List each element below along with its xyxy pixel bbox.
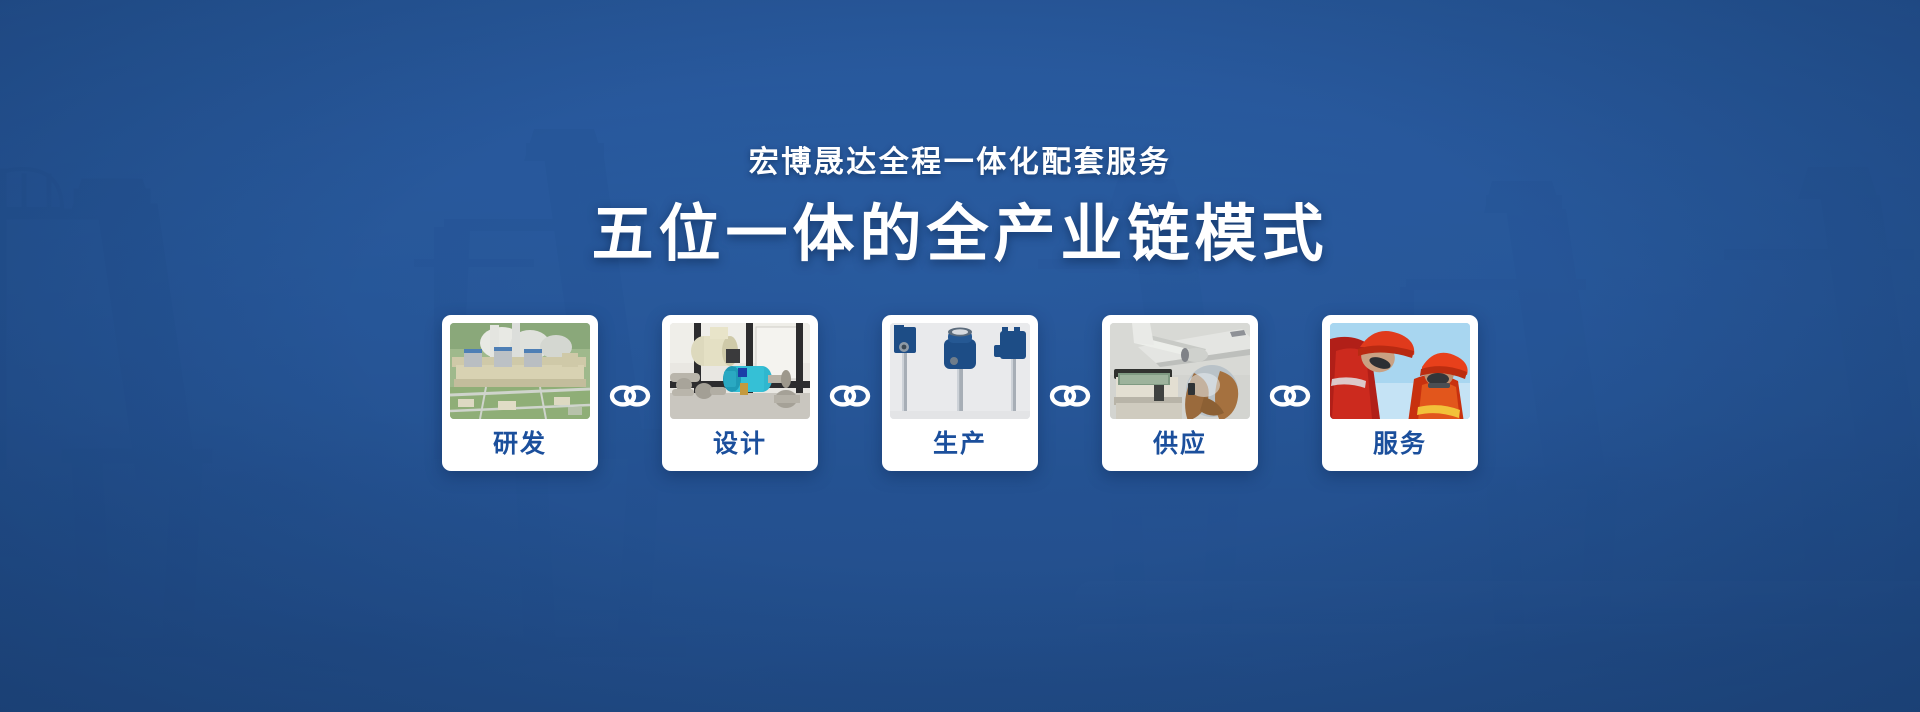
banner-subtitle: 宏博晟达全程一体化配套服务 (749, 148, 1172, 178)
chain-card-supply[interactable]: 供应 (1102, 315, 1258, 471)
chain-link-icon (829, 383, 871, 409)
industrial-plant-aerial-photo (450, 323, 590, 419)
chain-card-design[interactable]: 设计 (662, 315, 818, 471)
value-chain-list: 研发 (442, 315, 1478, 471)
chain-card-label: 设计 (713, 419, 767, 471)
chain-link-connector (818, 383, 882, 409)
chain-card-label: 研发 (493, 419, 547, 471)
level-transmitter-instruments-photo (890, 323, 1030, 419)
field-workers-hardhats-photo (1330, 323, 1470, 419)
chain-card-label: 生产 (933, 419, 987, 471)
chain-card-label: 供应 (1153, 419, 1207, 471)
chain-link-icon (1269, 383, 1311, 409)
chain-card-rd[interactable]: 研发 (442, 315, 598, 471)
chain-card-label: 服务 (1373, 419, 1427, 471)
chain-link-icon (1049, 383, 1091, 409)
chain-card-service[interactable]: 服务 (1322, 315, 1478, 471)
logistics-plane-truck-globe-photo (1110, 323, 1250, 419)
banner-title: 五位一体的全产业链模式 (591, 202, 1328, 269)
hero-banner: 宏博晟达全程一体化配套服务 五位一体的全产业链模式 (0, 0, 1920, 712)
chain-link-connector (1258, 383, 1322, 409)
chain-link-connector (1038, 383, 1102, 409)
cad-pump-assembly-render (670, 323, 810, 419)
banner-content: 宏博晟达全程一体化配套服务 五位一体的全产业链模式 (0, 0, 1920, 712)
chain-card-production[interactable]: 生产 (882, 315, 1038, 471)
chain-link-connector (598, 383, 662, 409)
chain-link-icon (609, 383, 651, 409)
